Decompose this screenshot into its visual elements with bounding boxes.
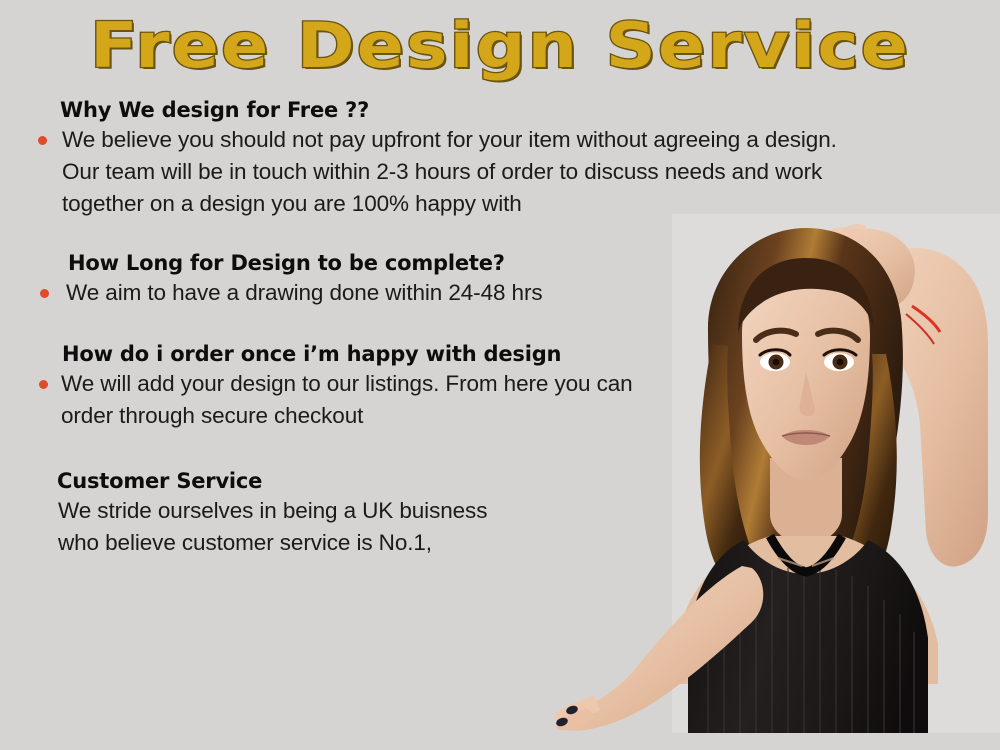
section-heading: Customer Service: [0, 467, 760, 495]
section-how-long: How Long for Design to be complete? We a…: [0, 249, 760, 309]
body-line: We stride ourselves in being a UK buisne…: [58, 495, 760, 527]
body-line: We will add your design to our listings.…: [61, 368, 760, 400]
bullet-icon: [38, 136, 47, 145]
page-title: Free Design Service: [90, 12, 910, 80]
section-why-free: Why We design for Free ?? We believe you…: [0, 96, 760, 220]
section-body: We stride ourselves in being a UK buisne…: [0, 495, 760, 559]
section-heading: Why We design for Free ??: [0, 96, 760, 124]
content-column: Why We design for Free ?? We believe you…: [0, 96, 760, 559]
body-line: Our team will be in touch within 2-3 hou…: [62, 156, 760, 188]
section-heading: How do i order once i’m happy with desig…: [0, 340, 760, 368]
section-customer-service: Customer Service We stride ourselves in …: [0, 467, 760, 559]
bullet-icon: [40, 289, 49, 298]
section-body: We aim to have a drawing done within 24-…: [0, 277, 760, 309]
bullet-icon: [39, 380, 48, 389]
pupil-left: [773, 359, 780, 366]
title-block: Free Design Service: [0, 12, 1000, 80]
section-body: We believe you should not pay upfront fo…: [0, 124, 760, 220]
body-line: order through secure checkout: [61, 400, 760, 432]
section-how-to-order: How do i order once i’m happy with desig…: [0, 340, 760, 432]
poster-canvas: Free Design Service: [0, 0, 1000, 750]
section-body: We will add your design to our listings.…: [0, 368, 760, 432]
body-line: We believe you should not pay upfront fo…: [62, 124, 760, 156]
body-line: We aim to have a drawing done within 24-…: [66, 277, 760, 309]
body-line: together on a design you are 100% happy …: [62, 188, 760, 220]
pupil-right: [837, 359, 844, 366]
section-heading: How Long for Design to be complete?: [0, 249, 760, 277]
body-line: who believe customer service is No.1,: [58, 527, 760, 559]
